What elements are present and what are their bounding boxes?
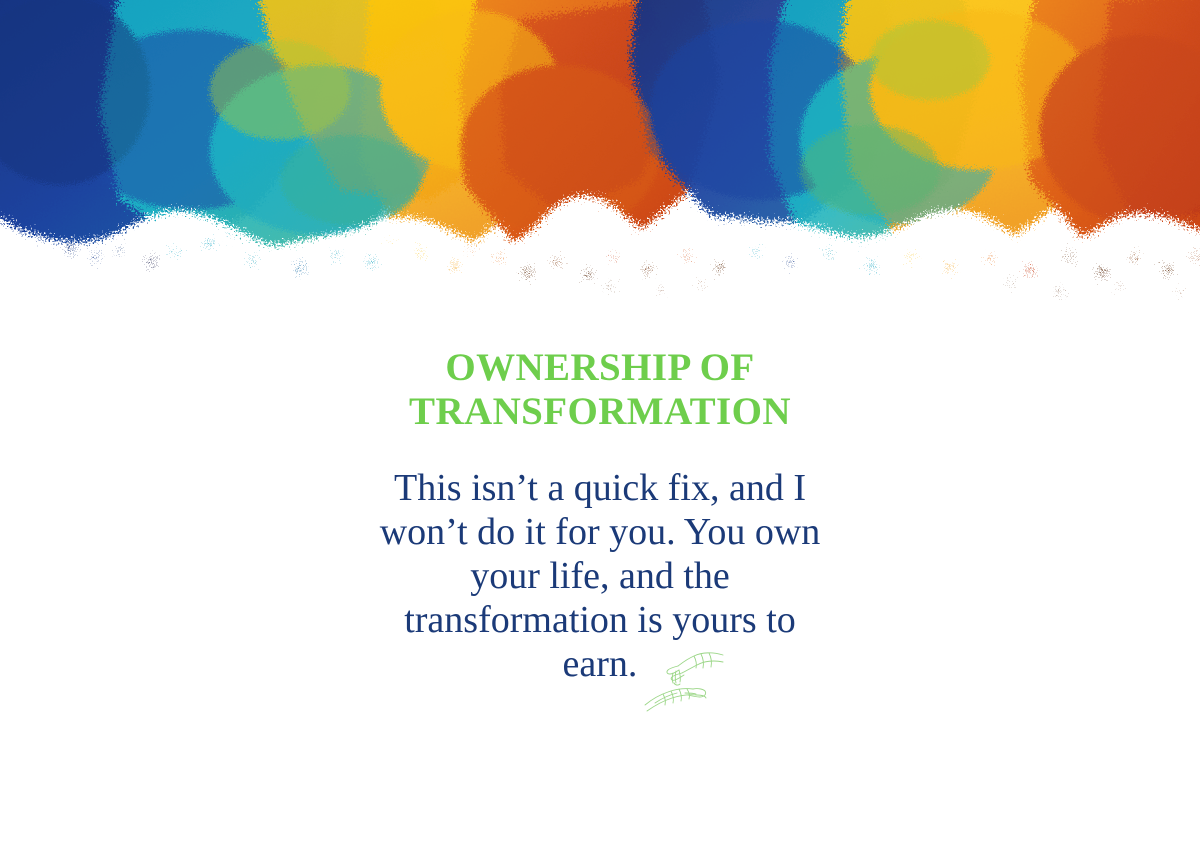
title-line-1: OWNERSHIP OF bbox=[0, 346, 1200, 390]
quote-text: This isn’t a quick fix, and I won’t do i… bbox=[300, 466, 900, 686]
quote-line-5: earn. bbox=[300, 642, 900, 686]
title-line-2: TRANSFORMATION bbox=[0, 390, 1200, 434]
quote-line-3: your life, and the bbox=[300, 554, 900, 598]
quote-line-4: transformation is yours to bbox=[300, 598, 900, 642]
page-title: OWNERSHIP OF TRANSFORMATION bbox=[0, 346, 1200, 435]
giving-hands-icon bbox=[641, 643, 727, 713]
quote-line-1: This isn’t a quick fix, and I bbox=[300, 466, 900, 510]
quote-line-2: won’t do it for you. You own bbox=[300, 510, 900, 554]
slide-canvas: OWNERSHIP OF TRANSFORMATION This isn’t a… bbox=[0, 0, 1200, 851]
paint-splatter-banner bbox=[0, 0, 1200, 300]
